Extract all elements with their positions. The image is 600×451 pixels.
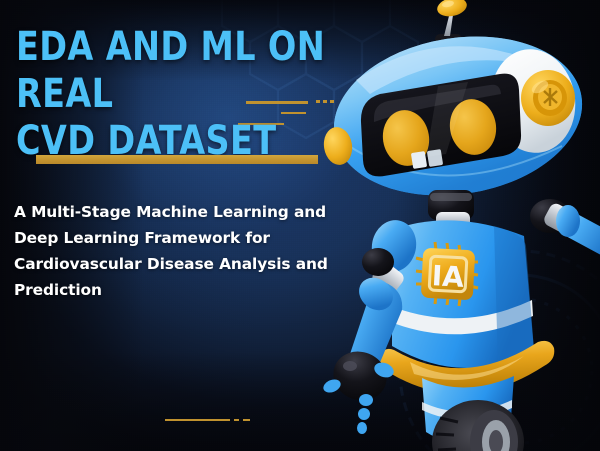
robot-arm-right [530,199,600,262]
page-subtitle: A Multi-Stage Machine Learning and Deep … [14,199,359,303]
robot-chip-badge: IA [416,242,478,306]
decor-dash-bottom-2 [234,419,239,421]
page-title: EDA AND ML ON REAL CVD DATASET [16,24,388,165]
poster-canvas: IA [0,0,600,451]
decor-dash-bottom-3 [243,419,250,421]
gold-divider-bar [36,155,318,164]
decor-dash-bottom-1 [165,419,230,421]
robot-chip-label: IA [431,259,465,294]
